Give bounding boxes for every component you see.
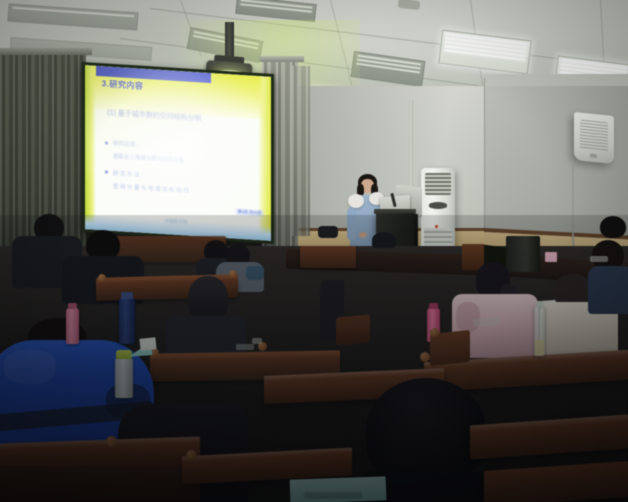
slide-bullet-1: 选取长三角城市群为研究对象 xyxy=(113,152,185,164)
bottle-cap-green xyxy=(116,350,132,359)
slide-surface: 3.研究内容 (1) 基于城市群的空间结构分析 研究区域： 选取长三角城市群为研… xyxy=(85,65,271,241)
slide-bullet-3: 空 间 计 量 与 地 理 加 权 回 归 xyxy=(113,182,189,195)
desk-knob xyxy=(420,352,430,362)
curtain-right xyxy=(292,66,310,236)
bottle-clear[interactable] xyxy=(534,306,545,356)
chair-back xyxy=(318,226,338,238)
slide-bullet-marker xyxy=(105,171,108,174)
glasses-icon xyxy=(590,256,608,262)
air-conditioner-indicator xyxy=(435,225,438,228)
pink-sticky xyxy=(545,252,557,262)
white-paper[interactable] xyxy=(139,337,156,351)
lecture-hall-photo: 3.研究内容 (1) 基于城市群的空间结构分析 研究区域： 选取长三角城市群为研… xyxy=(0,0,628,502)
head xyxy=(600,216,626,238)
jacket-hood xyxy=(4,350,56,384)
slide-page-tag: 第4页 共20页 xyxy=(236,209,264,217)
office-chair xyxy=(372,232,396,248)
torso xyxy=(588,266,628,314)
desk-object xyxy=(252,338,262,344)
bench-knob xyxy=(430,328,439,337)
desk-front-panel xyxy=(0,466,200,502)
bottle-green[interactable] xyxy=(115,358,133,398)
wall-speaker xyxy=(574,112,614,164)
projection-screen: 3.研究内容 (1) 基于城市群的空间结构分析 研究区域： 选取长三角城市群为研… xyxy=(85,65,271,241)
air-conditioner-badge xyxy=(429,202,447,209)
bottle-cap xyxy=(429,303,438,309)
bottle-cap xyxy=(121,292,133,299)
bottle-liquid xyxy=(535,340,544,355)
audience-person xyxy=(166,276,246,362)
desk-knob xyxy=(186,450,197,461)
desk-knob xyxy=(106,436,117,447)
small-paper xyxy=(236,344,254,350)
bench-knob xyxy=(98,274,106,282)
presenter-hand xyxy=(359,232,367,238)
curtain-rail-left xyxy=(0,48,92,55)
slide-bullet-2: 研 究 方 法 ： xyxy=(113,169,147,179)
slide-left-edge xyxy=(85,65,96,230)
speaker-grill xyxy=(580,120,608,153)
back-bench xyxy=(300,246,356,268)
audience-person xyxy=(588,240,628,312)
curtain-rail-right xyxy=(260,56,304,62)
scarf xyxy=(246,266,264,280)
handout-text-line xyxy=(304,492,362,499)
hair xyxy=(366,378,486,482)
presenter-scarf xyxy=(348,194,364,208)
bench-back xyxy=(336,315,370,346)
air-conditioner-vent xyxy=(425,173,451,195)
coat-hood xyxy=(456,302,480,332)
bottle-cap xyxy=(536,301,543,307)
slide-bullet-marker xyxy=(105,141,108,144)
speaker-badge xyxy=(590,154,597,159)
wall-corner xyxy=(484,78,485,246)
audience-person xyxy=(600,216,628,246)
bottle-pink[interactable] xyxy=(66,308,79,344)
slide-bullet-0: 研究区域： xyxy=(113,139,141,149)
bottle-blue[interactable] xyxy=(119,298,135,344)
projection-screen-frame: 3.研究内容 (1) 基于城市群的空间结构分析 研究区域： 选取长三角城市群为研… xyxy=(82,62,274,244)
presenter-arm-left xyxy=(347,208,356,240)
bottle-cap xyxy=(68,303,77,309)
